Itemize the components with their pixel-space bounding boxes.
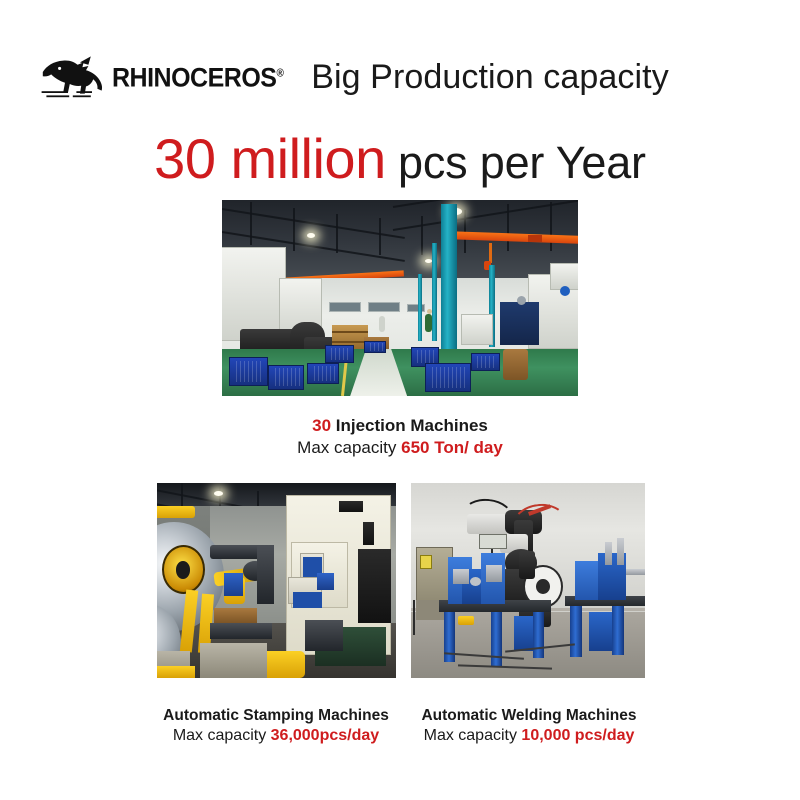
caption-stamping-line1: Automatic Stamping Machines <box>140 706 412 726</box>
caption-stamping-line2: Max capacity 36,000pcs/day <box>140 726 412 747</box>
caption-welding: Automatic Welding Machines Max capacity … <box>400 706 658 747</box>
welding-robot-scene <box>411 483 645 678</box>
caption-injection-line1: 30 Injection Machines <box>200 415 600 437</box>
header: RHINOCEROS® Big Production capacity <box>0 0 800 118</box>
marketing-poster: RHINOCEROS® Big Production capacity 30 m… <box>0 0 800 800</box>
photo-injection-workshop <box>222 200 578 396</box>
caption-welding-line2: Max capacity 10,000 pcs/day <box>400 726 658 747</box>
caption-injection: 30 Injection Machines Max capacity 650 T… <box>200 415 600 459</box>
caption-stamping-capacity: 36,000pcs/day <box>271 727 380 744</box>
stamping-press-scene <box>157 483 396 678</box>
page-title: Big Production capacity <box>0 58 800 97</box>
headline-rest: pcs per Year <box>386 137 646 188</box>
factory-interior-scene <box>222 200 578 396</box>
caption-welding-capacity: 10,000 pcs/day <box>521 727 634 744</box>
headline: 30 million pcs per Year <box>0 126 800 191</box>
headline-highlight: 30 million <box>154 127 386 190</box>
photo-welding-machine <box>411 483 645 678</box>
caption-injection-line2: Max capacity 650 Ton/ day <box>200 437 600 459</box>
caption-injection-count: 30 <box>312 416 331 435</box>
caption-stamping: Automatic Stamping Machines Max capacity… <box>140 706 412 747</box>
photo-stamping-machine <box>157 483 396 678</box>
caption-welding-line1: Automatic Welding Machines <box>400 706 658 726</box>
caption-injection-capacity: 650 Ton/ day <box>401 438 503 457</box>
